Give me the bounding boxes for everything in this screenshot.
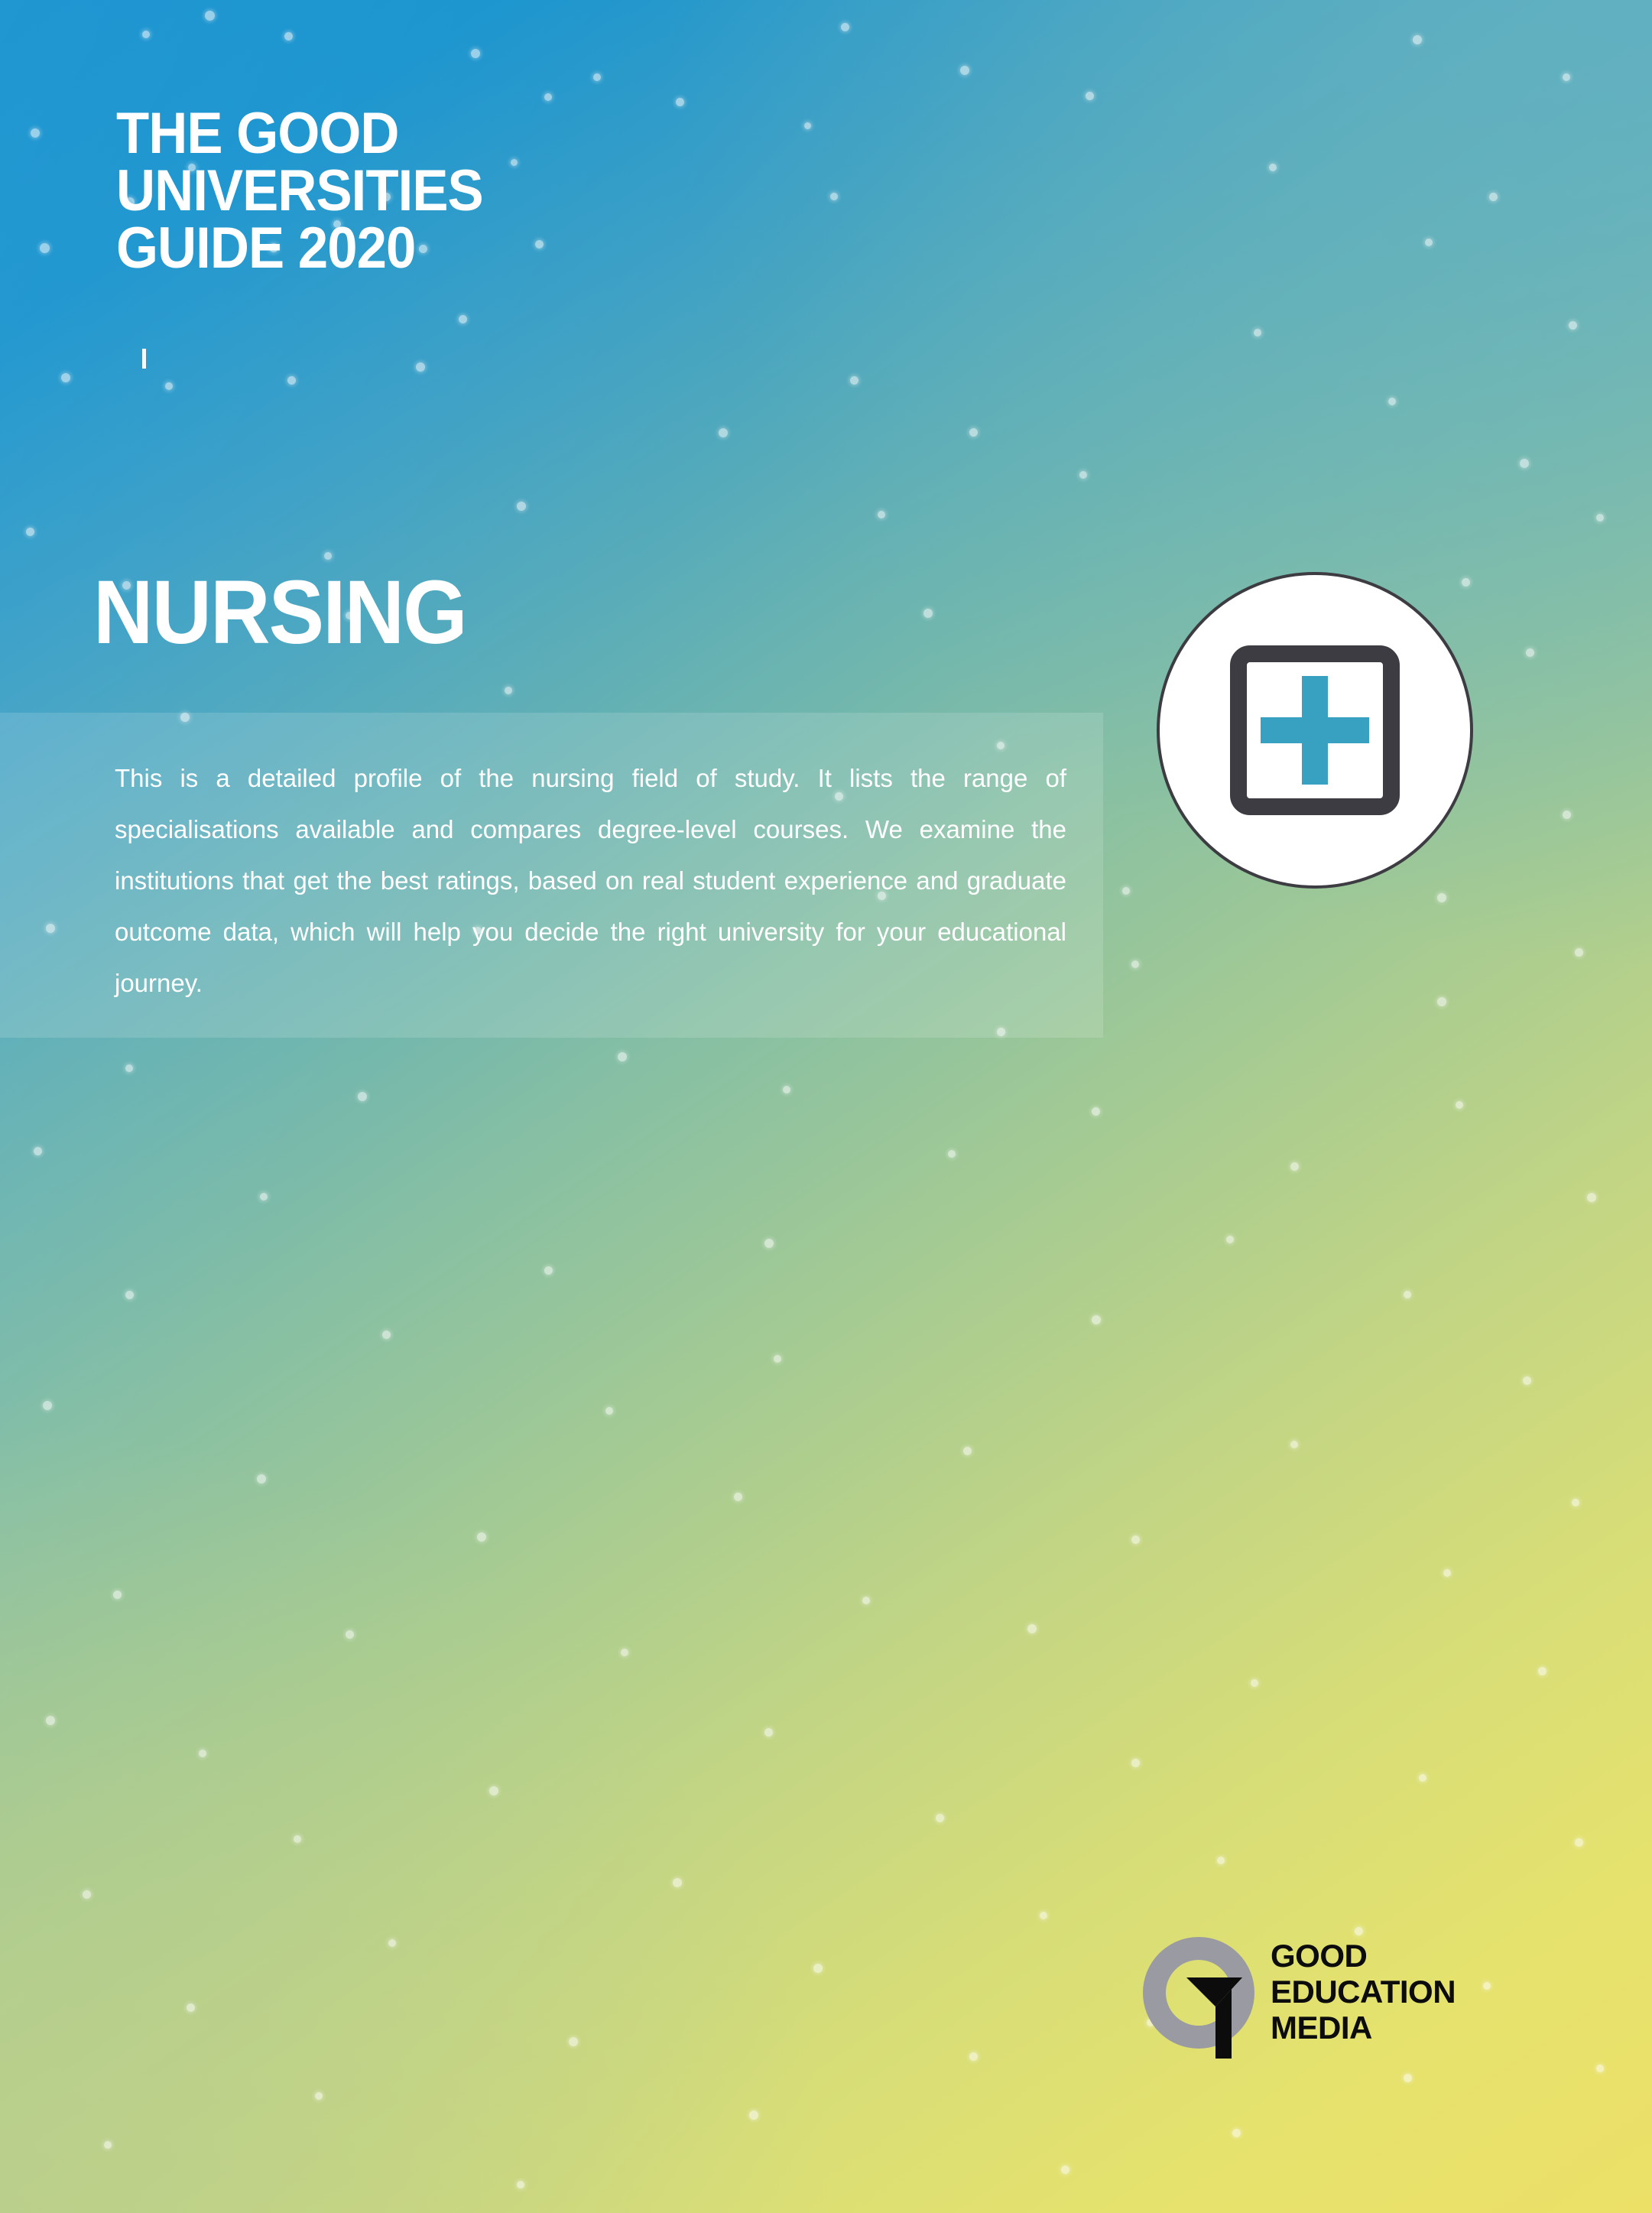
publisher-logo-text: GOOD EDUCATION MEDIA (1271, 1938, 1456, 2046)
masthead-line-3: GUIDE 2020 (116, 220, 756, 278)
publisher-logo: GOOD EDUCATION MEDIA (1142, 1930, 1478, 2060)
intro-paragraph: This is a detailed profile of the nursin… (115, 752, 1066, 1009)
masthead-line-2: UNIVERSITIES (116, 163, 756, 220)
masthead-title: THE GOOD UNIVERSITIES GUIDE 2020 (116, 106, 804, 278)
medical-cross-icon (1157, 572, 1473, 889)
masthead-tick-mark (142, 349, 146, 369)
logo-line-2: EDUCATION (1271, 1974, 1456, 2010)
background-sheen (0, 0, 1652, 2213)
logo-line-3: MEDIA (1271, 2010, 1456, 2046)
guide-cover-page: THE GOOD UNIVERSITIES GUIDE 2020 NURSING… (0, 0, 1652, 2213)
cross-vertical-bar (1302, 676, 1328, 785)
good-education-media-mark-icon (1142, 1930, 1264, 2060)
logo-line-1: GOOD (1271, 1938, 1456, 1974)
masthead-line-1: THE GOOD (116, 106, 756, 163)
page-title: NURSING (93, 567, 466, 658)
